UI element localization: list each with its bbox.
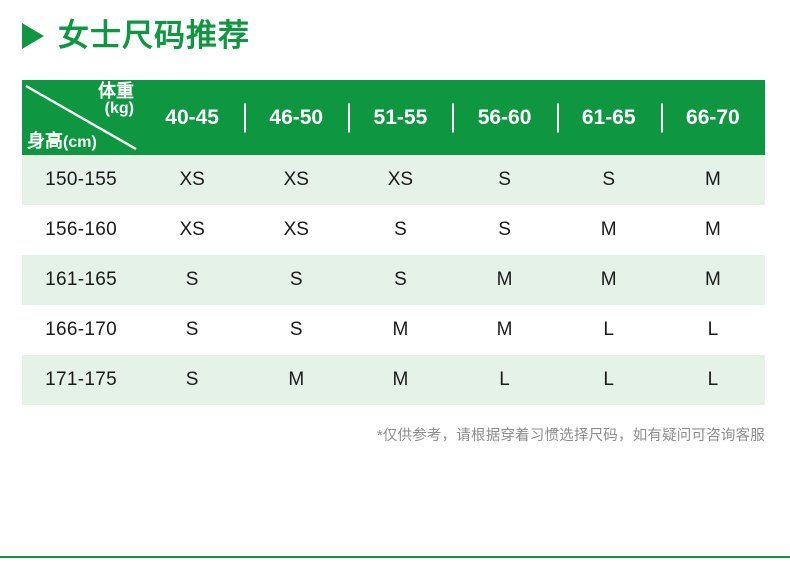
weight-axis-text: 体重 [98,82,134,101]
table-row: 171-175 S M M L L L [22,355,765,405]
weight-column-header: 51-55 [348,80,452,155]
weight-column-header: 40-45 [140,80,244,155]
play-triangle-icon [22,23,44,49]
table-footnote: *仅供参考，请根据穿着习惯选择尺码，如有疑问可咨询客服 [377,424,765,445]
table-body: 150-155 XS XS XS S S M 156-160 XS XS S S… [22,155,765,405]
height-axis-text: 身高 [27,131,63,151]
size-cell: L [557,305,661,355]
table-row: 166-170 S S M M L L [22,305,765,355]
size-cell: M [557,205,661,255]
table-header: 体重 (kg) 身高(cm) 40-45 46-50 51-55 56-60 6… [22,80,765,155]
corner-axis-cell: 体重 (kg) 身高(cm) [22,80,140,155]
weight-column-header: 61-65 [557,80,661,155]
size-cell: S [140,255,244,305]
size-cell: XS [244,205,348,255]
size-cell: L [661,355,765,405]
bottom-divider [0,556,790,558]
size-cell: XS [244,155,348,205]
height-row-label: 171-175 [22,355,140,405]
size-cell: M [244,355,348,405]
height-row-label: 156-160 [22,205,140,255]
size-cell: M [557,255,661,305]
size-cell: S [244,255,348,305]
weight-axis-label: 体重 (kg) [98,82,134,118]
size-cell: XS [140,205,244,255]
size-cell: M [348,355,452,405]
size-cell: M [661,255,765,305]
height-axis-label: 身高(cm) [27,132,97,152]
height-row-label: 161-165 [22,255,140,305]
height-row-label: 166-170 [22,305,140,355]
height-row-label: 150-155 [22,155,140,205]
size-cell: S [452,205,556,255]
header-row: 体重 (kg) 身高(cm) 40-45 46-50 51-55 56-60 6… [22,80,765,155]
page-title: 女士尺码推荐 [58,20,250,51]
size-cell: S [140,305,244,355]
size-cell: M [348,305,452,355]
size-cell: S [348,205,452,255]
size-recommendation-table: 体重 (kg) 身高(cm) 40-45 46-50 51-55 56-60 6… [22,80,765,405]
table-row: 150-155 XS XS XS S S M [22,155,765,205]
size-cell: S [244,305,348,355]
size-cell: L [661,305,765,355]
size-cell: XS [348,155,452,205]
size-cell: S [452,155,556,205]
size-cell: M [452,305,556,355]
table-row: 161-165 S S S M M M [22,255,765,305]
height-axis-unit: (cm) [63,134,97,151]
page-title-row: 女士尺码推荐 [22,20,250,51]
size-cell: M [661,155,765,205]
size-cell: XS [140,155,244,205]
weight-column-header: 46-50 [244,80,348,155]
size-cell: M [661,205,765,255]
table-row: 156-160 XS XS S S M M [22,205,765,255]
size-cell: S [140,355,244,405]
weight-axis-unit: (kg) [98,101,134,118]
size-cell: S [348,255,452,305]
weight-column-header: 56-60 [452,80,556,155]
size-cell: L [557,355,661,405]
weight-column-header: 66-70 [661,80,765,155]
size-cell: S [557,155,661,205]
size-cell: L [452,355,556,405]
size-cell: M [452,255,556,305]
